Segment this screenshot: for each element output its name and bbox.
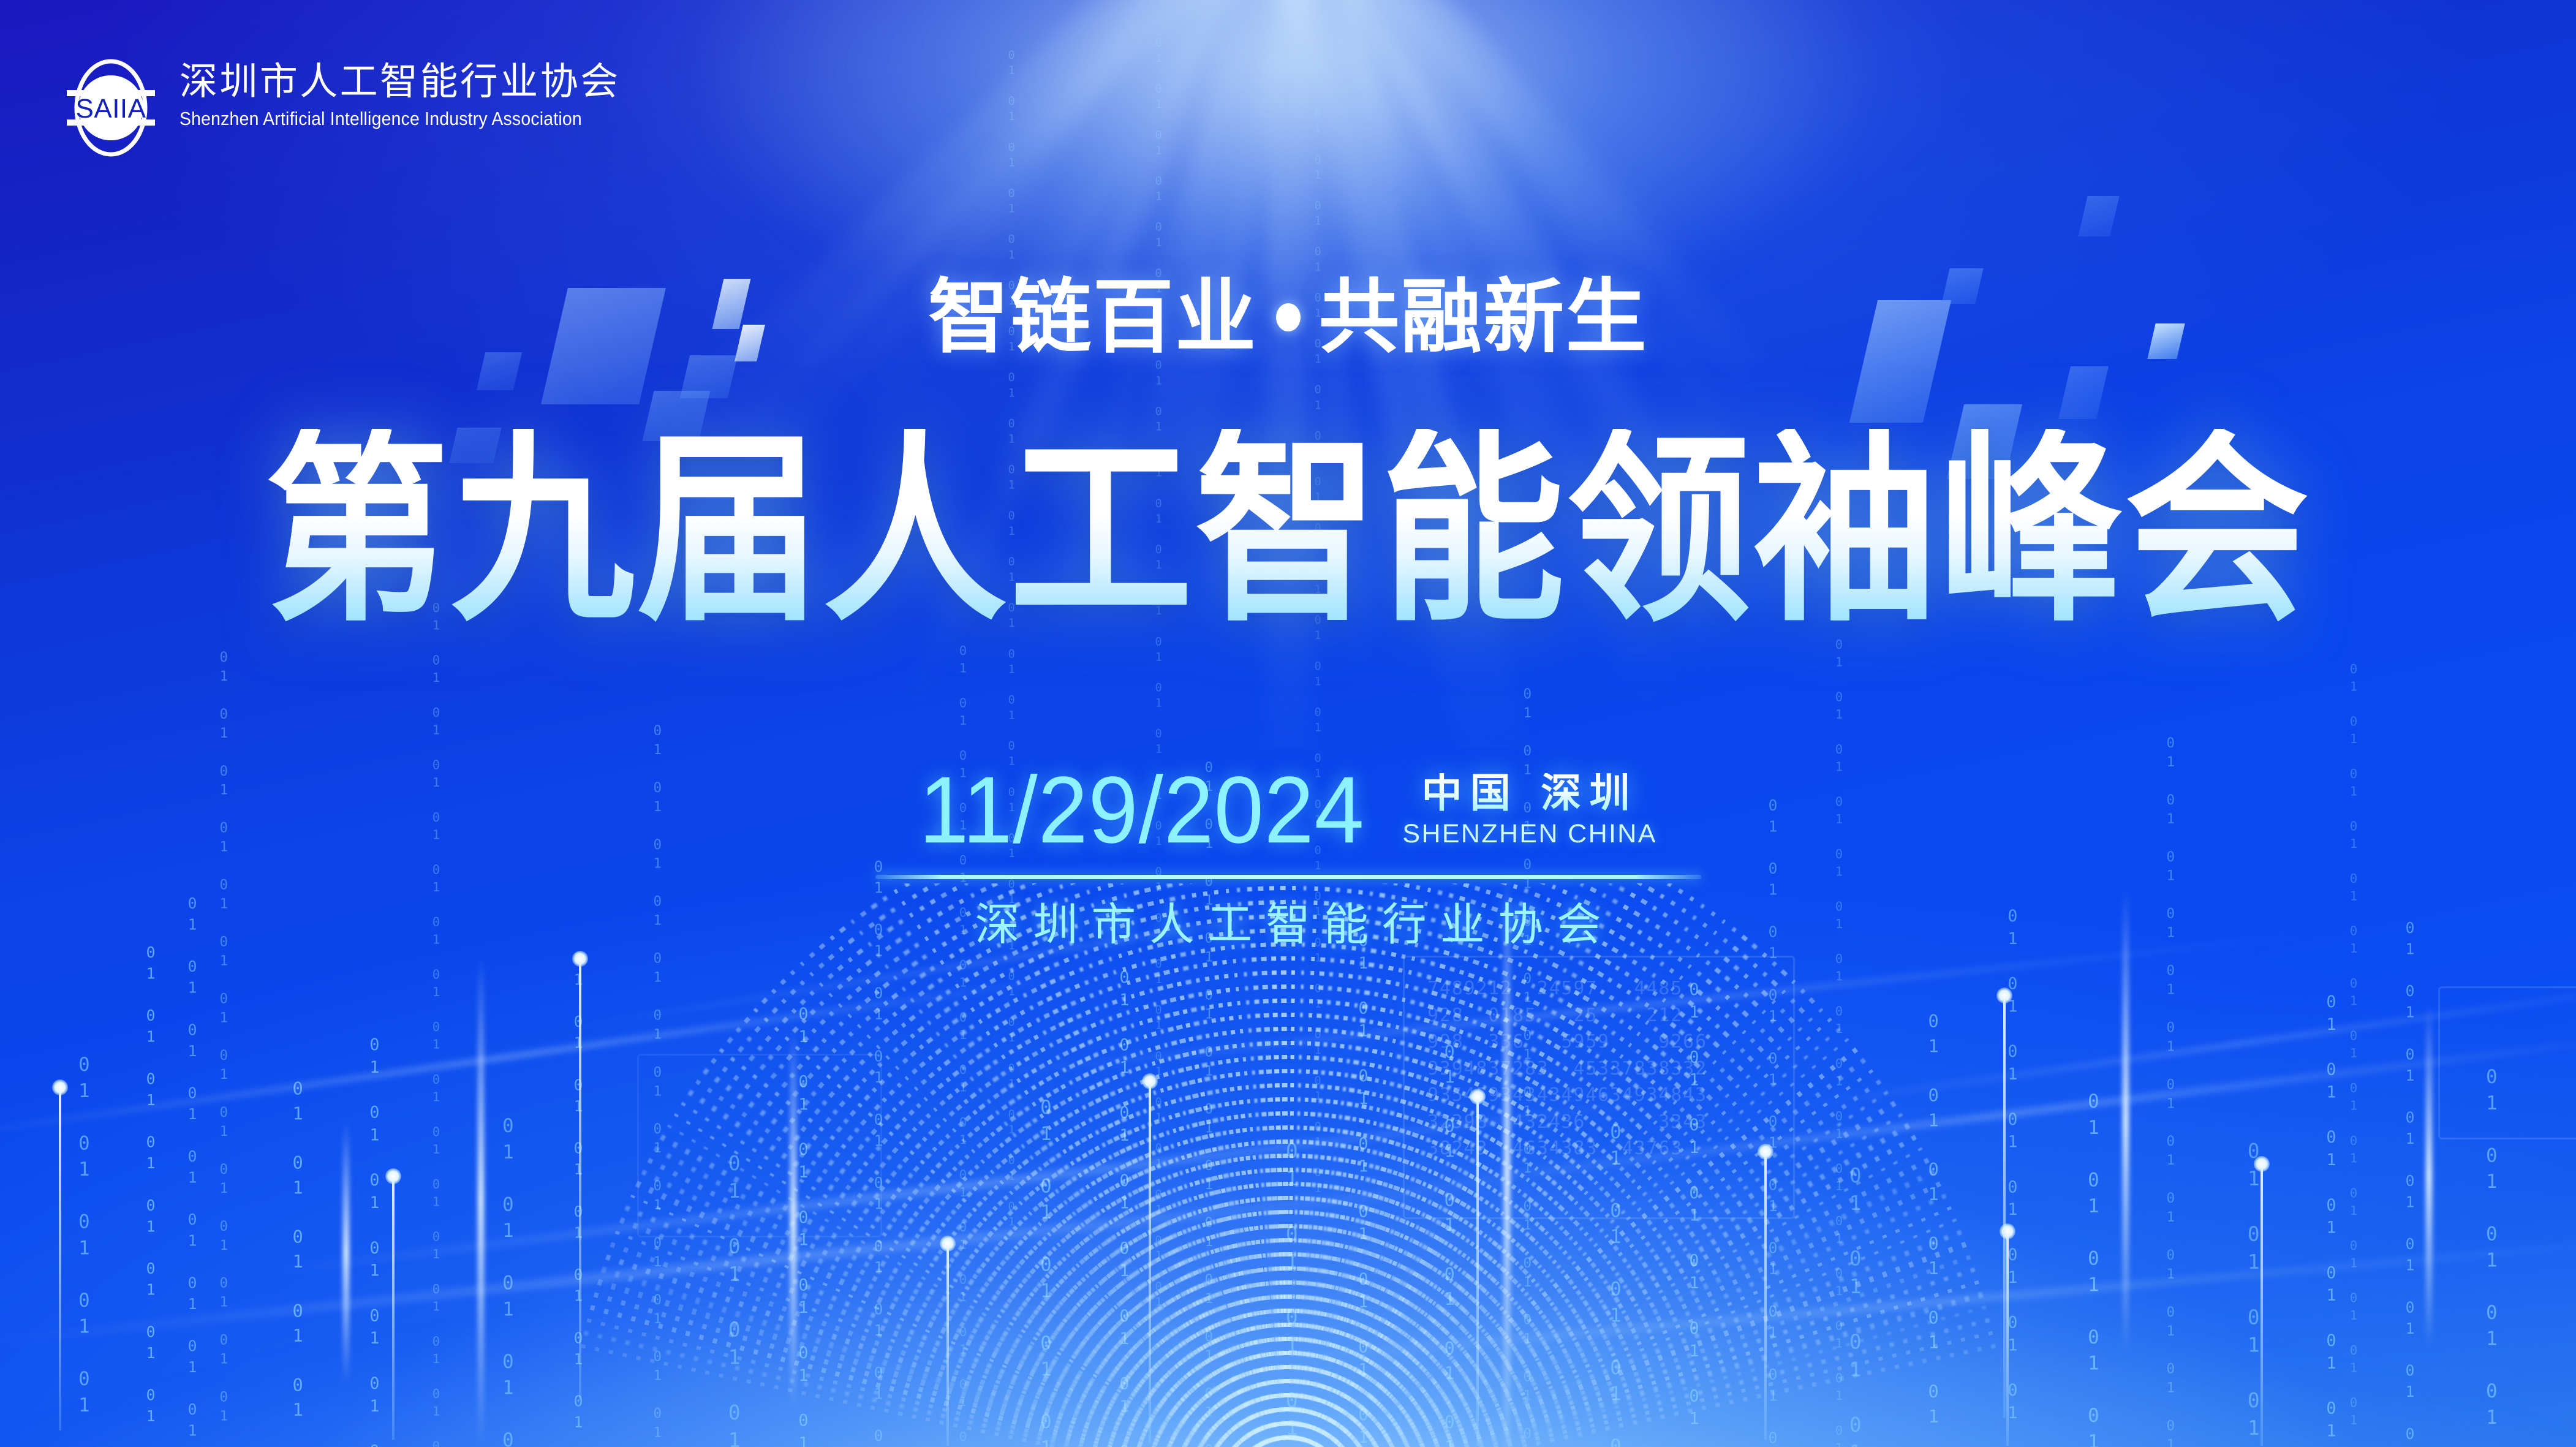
tech-panel xyxy=(2438,986,2576,1139)
light-beam xyxy=(2426,1005,2432,1348)
binary-column: 01 01 01 01 01 01 01 01 01 01 01 01 01 0… xyxy=(1115,968,1133,1447)
data-stream-line xyxy=(882,896,1290,1447)
fx-layer xyxy=(0,0,2576,1447)
data-stream-line xyxy=(1060,883,1290,1447)
binary-column: 01 01 01 01 01 01 01 01 01 01 01 01 xyxy=(1280,1139,1303,1447)
event-headline: 第九届人工智能领袖峰会 xyxy=(0,429,2576,613)
data-stream-line xyxy=(1046,883,1290,1447)
data-stream-line xyxy=(1084,883,1290,1447)
data-pin xyxy=(59,1087,61,1430)
data-stream-line xyxy=(938,883,1290,1447)
event-details: 11/29/2024 中国 深圳 SHENZHEN CHINA 深圳市人工智能行… xyxy=(0,765,2576,947)
binary-column: 01 01 01 01 01 01 01 01 01 01 01 01 01 xyxy=(497,1115,518,1447)
poster-canvas: 7489212 24597 4485 928 0185 25 212 998 3… xyxy=(0,0,2576,1447)
decor-shapes xyxy=(0,0,2576,1447)
data-stream-line xyxy=(619,1217,1289,1447)
data-stream-line xyxy=(614,1231,1288,1447)
binary-column: 01 01 01 01 01 01 01 01 01 01 01 01 01 0… xyxy=(2322,992,2340,1447)
data-stream-line xyxy=(850,919,1289,1447)
decorative-parallelogram xyxy=(2078,196,2119,236)
saiia-logo-icon: SAIIA xyxy=(58,55,164,161)
subtitle-row: 智链百业 共融新生 xyxy=(0,277,2576,358)
data-pin xyxy=(2006,1231,2009,1446)
data-stream-line xyxy=(610,1242,1289,1447)
association-logo: SAIIA 深圳市人工智能行业协会 Shenzhen Artificial In… xyxy=(58,54,621,161)
light-ray xyxy=(1207,0,1316,459)
data-stream-line xyxy=(1288,1218,1957,1447)
data-stream-line xyxy=(1009,883,1290,1447)
light-streak xyxy=(1197,1234,2576,1370)
data-pin xyxy=(579,959,581,1400)
data-stream-line xyxy=(984,883,1291,1447)
data-stream-line xyxy=(1239,883,1290,1447)
data-stream-line xyxy=(1286,883,1337,1447)
data-stream-line xyxy=(950,883,1289,1447)
data-stream-line xyxy=(1286,883,1349,1447)
data-stream-line xyxy=(1287,1242,1966,1447)
subtitle-left: 智链百业 xyxy=(928,277,1258,358)
data-stream-line xyxy=(1187,883,1290,1447)
light-ray xyxy=(665,0,1312,463)
data-stream-line xyxy=(1135,883,1290,1447)
data-pin xyxy=(392,1176,395,1440)
data-stream-line xyxy=(915,883,1290,1447)
data-stream-line xyxy=(1122,883,1291,1447)
data-stream-line xyxy=(1286,883,1415,1447)
data-stream-line xyxy=(597,1279,1289,1447)
data-stream-line xyxy=(1252,883,1291,1447)
decorative-parallelogram xyxy=(680,355,738,398)
logo-org-name-cn: 深圳市人工智能行业协会 xyxy=(179,62,621,100)
data-stream-line xyxy=(1200,883,1290,1447)
data-stream-line xyxy=(589,1305,1288,1447)
data-stream-line xyxy=(1286,883,1309,1447)
date-location-row: 11/29/2024 中国 深圳 SHENZHEN CHINA xyxy=(919,765,1657,850)
data-stream-line xyxy=(1286,883,1362,1447)
binary-column: 01 01 01 01 01 01 01 01 01 01 01 01 01 0… xyxy=(288,1078,308,1447)
data-stream-line xyxy=(973,883,1291,1447)
light-ray xyxy=(1277,0,1741,433)
binary-column: 01 01 01 01 01 01 01 01 01 01 01 01 01 0… xyxy=(1354,931,1372,1447)
data-stream-line xyxy=(1174,883,1290,1447)
data-stream-line xyxy=(818,943,1290,1447)
data-stream-line xyxy=(624,1205,1289,1447)
binary-column: 01 01 01 01 01 01 01 01 01 01 01 xyxy=(1844,1164,1867,1447)
binary-column: 01 01 01 01 01 01 01 01 01 01 01 01 01 0… xyxy=(1152,37,1165,1311)
data-field xyxy=(0,883,2576,1447)
data-stream-line xyxy=(1287,1268,1974,1447)
data-stream-line xyxy=(1022,883,1290,1447)
binary-column: 01 01 01 01 01 01 01 01 01 01 01 01 01 0… xyxy=(74,1054,94,1447)
data-stream-line xyxy=(871,902,1291,1447)
subtitle-separator-dot xyxy=(1276,303,1301,331)
data-stream-line xyxy=(1288,1280,1979,1447)
light-ray xyxy=(1282,0,1725,282)
binary-column: 01 01 01 01 01 01 01 01 01 01 01 01 01 0… xyxy=(1035,1097,1056,1447)
data-pin xyxy=(2003,996,2006,1418)
data-stream-line xyxy=(1286,883,1296,1447)
event-date: 11/29/2024 xyxy=(919,765,1364,856)
binary-column: 01 01 01 01 01 01 01 01 01 01 01 01 01 0… xyxy=(1924,1011,1943,1447)
data-stream-line xyxy=(1287,1182,1941,1447)
data-stream-line xyxy=(1109,883,1291,1447)
data-stream-line xyxy=(593,1292,1289,1447)
data-stream-line xyxy=(839,926,1291,1447)
data-stream-line xyxy=(586,1318,1288,1447)
light-ray xyxy=(1145,0,1296,446)
logo-text-block: 深圳市人工智能行业协会 Shenzhen Artificial Intellig… xyxy=(179,54,621,130)
data-stream-line xyxy=(893,889,1290,1447)
binary-column: 01 01 01 01 01 01 01 01 01 01 01 01 01 0… xyxy=(365,1035,383,1447)
data-stream-line xyxy=(1214,883,1290,1447)
location-cn: 中国 深圳 xyxy=(1402,773,1656,814)
binary-rain-layer: 01 01 01 01 01 01 01 01 01 01 01 01 01 0… xyxy=(0,0,2576,1447)
data-stream-line xyxy=(829,935,1290,1447)
data-stream-line xyxy=(583,1331,1288,1447)
data-stream-line xyxy=(581,1344,1289,1447)
svg-text:SAIIA: SAIIA xyxy=(76,94,146,124)
data-stream-line xyxy=(1288,1305,1986,1447)
details-divider xyxy=(875,875,1701,879)
event-location: 中国 深圳 SHENZHEN CHINA xyxy=(1402,765,1656,847)
binary-column: 01 01 01 01 01 01 01 01 01 01 01 01 01 0… xyxy=(184,894,201,1447)
light-streak xyxy=(0,973,1085,1141)
data-stream-line xyxy=(1072,883,1290,1447)
data-stream-line xyxy=(1287,1255,1971,1447)
binary-column: 01 01 01 01 01 01 01 01 01 01 01 01 xyxy=(2242,1139,2265,1447)
data-stream-line xyxy=(1288,1318,1990,1447)
data-stream-line xyxy=(1286,883,1323,1447)
data-stream-line xyxy=(1161,883,1290,1447)
data-stream-line xyxy=(904,883,1290,1447)
light-beam xyxy=(2123,888,2129,1354)
binary-column: 01 01 01 01 01 01 01 01 01 01 01 01 01 0… xyxy=(1832,637,1846,1447)
headline-text: 第九届人工智能领袖峰会 xyxy=(265,429,2311,633)
organizer-name: 深圳市人工智能行业协会 xyxy=(962,902,1615,947)
data-stream-line xyxy=(1266,883,1290,1447)
tech-panel xyxy=(637,1054,882,1237)
data-stream-line xyxy=(1287,1193,1946,1447)
data-stream-line xyxy=(1287,1292,1983,1447)
binary-column: 01 01 01 01 01 01 01 01 01 01 01 01 01 0… xyxy=(2083,1090,2104,1447)
light-beam xyxy=(343,1121,349,1385)
data-stream-line xyxy=(997,883,1290,1447)
decorative-parallelogram xyxy=(2058,366,2109,419)
binary-column: 01 01 01 01 01 01 01 01 01 01 01 01 01 0… xyxy=(142,943,159,1447)
data-stream-line xyxy=(1286,883,1388,1447)
data-stream-line xyxy=(859,910,1290,1447)
logo-org-name-en: Shenzhen Artificial Intelligence Industr… xyxy=(179,108,589,130)
data-stream-line xyxy=(605,1254,1289,1447)
data-stream-line xyxy=(1034,883,1290,1447)
data-stream-line xyxy=(1279,883,1290,1447)
data-stream-line xyxy=(1288,1331,1993,1447)
data-pin xyxy=(2261,1164,2263,1446)
data-stream-line xyxy=(1285,883,1403,1447)
code-block: 7489212 24597 4485 928 0185 25 212 998 3… xyxy=(1427,975,1707,1162)
data-stream-line xyxy=(1227,883,1290,1447)
binary-column: 01 01 01 01 01 01 01 01 01 01 01 01 01 0… xyxy=(2003,907,2022,1447)
data-stream-line xyxy=(1286,883,1375,1447)
light-ray xyxy=(1255,0,1497,444)
subtitle-right: 共融新生 xyxy=(1319,277,1649,358)
data-pin xyxy=(1149,1081,1151,1443)
data-stream-line xyxy=(1287,1230,1962,1447)
location-en: SHENZHEN CHINA xyxy=(1402,821,1656,847)
data-stream-line xyxy=(1097,883,1289,1447)
data-stream-line xyxy=(961,883,1290,1447)
data-stream-line xyxy=(1147,883,1291,1447)
light-ray xyxy=(825,0,1310,441)
data-stream-line xyxy=(926,883,1291,1447)
binary-column: 01 01 01 01 01 01 01 01 01 01 01 01 01 0… xyxy=(2401,919,2419,1447)
data-stream-line xyxy=(1288,1206,1952,1447)
event-subtitle: 智链百业 共融新生 xyxy=(928,277,1648,358)
data-stream-line xyxy=(600,1266,1289,1447)
data-pin xyxy=(946,1244,949,1446)
data-stream-line xyxy=(1288,1343,1996,1447)
decorative-parallelogram xyxy=(477,352,522,390)
field-glow xyxy=(0,1196,2576,1447)
binary-column: 01 01 01 01 01 01 01 01 01 01 01 01 01 0… xyxy=(570,950,587,1447)
light-beam xyxy=(478,956,484,1446)
binary-column: 01 01 01 01 01 01 01 01 01 01 01 01 01 0… xyxy=(429,600,443,1447)
